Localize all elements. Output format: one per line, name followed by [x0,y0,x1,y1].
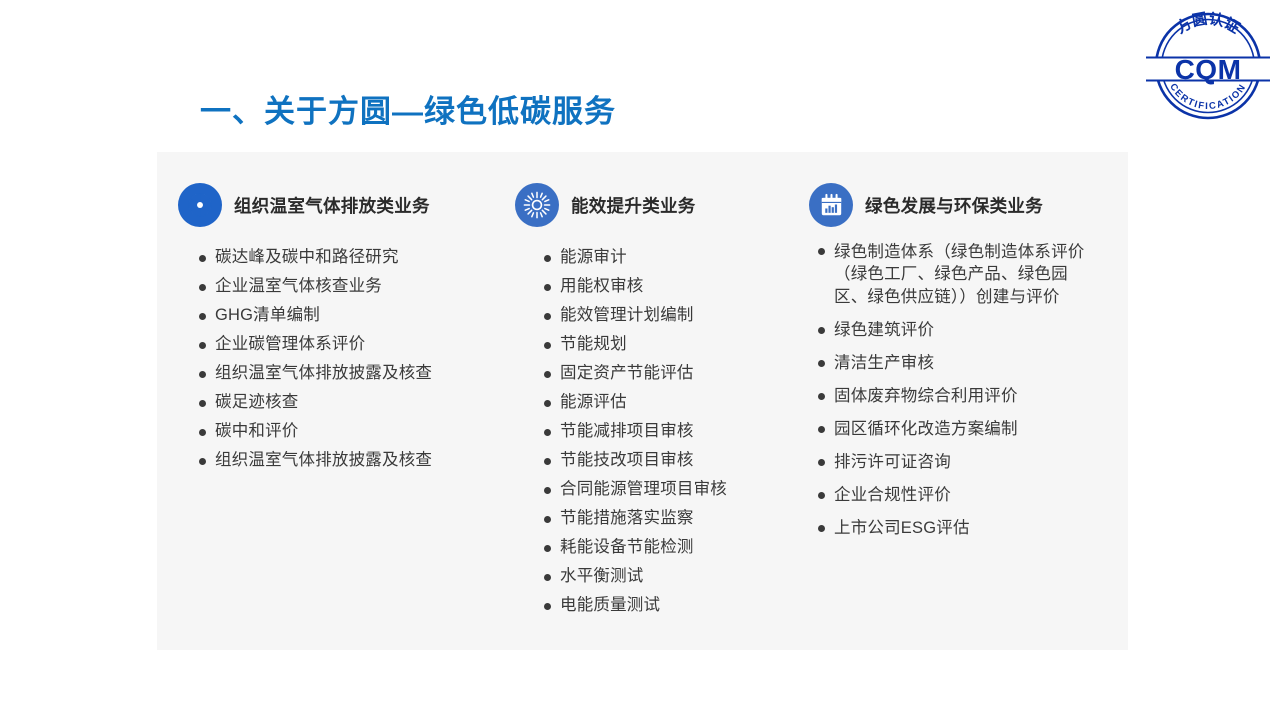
list-item: 能源审计 [543,249,799,266]
list-item: 企业碳管理体系评价 [198,336,504,353]
slide-root: 方圆认证 CERTIFICATION CQM 一、关于方圆—绿色低碳服务 [0,0,1280,720]
list-item: 节能规划 [543,336,799,353]
list-item: 用能权审核 [543,278,799,295]
list-item: 能效管理计划编制 [543,307,799,324]
cqm-certification-logo: 方圆认证 CERTIFICATION CQM [1144,2,1272,130]
service-column-efficiency: 能效提升类业务 能源审计 用能权审核 能效管理计划编制 节能规划 固定资产节能评… [504,152,799,650]
list-item: 碳足迹核查 [198,394,504,411]
list-item: 企业温室气体核查业务 [198,278,504,295]
list-item: 节能技改项目审核 [543,452,799,469]
list-item: 清洁生产审核 [817,353,1128,375]
aperture-icon [178,183,222,227]
logo-bottom-arc-text: CERTIFICATION [1167,82,1249,113]
list-item: 耗能设备节能检测 [543,539,799,556]
list-item: 固体废弃物综合利用评价 [817,386,1128,408]
list-item: 组织温室气体排放披露及核查 [198,452,504,469]
column-header-efficiency: 能效提升类业务 [515,183,799,227]
list-item: 组织温室气体排放披露及核查 [198,365,504,382]
column-title-ghg: 组织温室气体排放类业务 [234,193,430,218]
list-item: 水平衡测试 [543,568,799,585]
svg-text:CERTIFICATION: CERTIFICATION [1167,82,1249,113]
column-title-efficiency: 能效提升类业务 [571,193,696,218]
list-item: 碳中和评价 [198,423,504,440]
list-item: 上市公司ESG评估 [817,518,1128,540]
service-list-efficiency: 能源审计 用能权审核 能效管理计划编制 节能规划 固定资产节能评估 能源评估 节… [543,249,799,614]
service-list-ghg: 碳达峰及碳中和路径研究 企业温室气体核查业务 GHG清单编制 企业碳管理体系评价… [198,249,504,469]
sun-icon [515,183,559,227]
service-list-green: 绿色制造体系（绿色制造体系评价（绿色工厂、绿色产品、绿色园区、绿色供应链））创建… [817,241,1128,540]
list-item: 绿色制造体系（绿色制造体系评价（绿色工厂、绿色产品、绿色园区、绿色供应链））创建… [817,241,1085,308]
list-item: 能源评估 [543,394,799,411]
service-column-green: 绿色发展与环保类业务 绿色制造体系（绿色制造体系评价（绿色工厂、绿色产品、绿色园… [799,152,1128,650]
list-item: 合同能源管理项目审核 [543,481,799,498]
list-item: 节能措施落实监察 [543,510,799,527]
service-columns: 组织温室气体排放类业务 碳达峰及碳中和路径研究 企业温室气体核查业务 GHG清单… [157,152,1128,650]
list-item: 电能质量测试 [543,597,799,614]
list-item: 固定资产节能评估 [543,365,799,382]
page-title: 一、关于方圆—绿色低碳服务 [200,94,616,130]
service-column-ghg: 组织温室气体排放类业务 碳达峰及碳中和路径研究 企业温室气体核查业务 GHG清单… [157,152,504,650]
list-item: 节能减排项目审核 [543,423,799,440]
list-item: 排污许可证咨询 [817,452,1128,474]
list-item: GHG清单编制 [198,307,504,324]
column-header-green: 绿色发展与环保类业务 [809,183,1128,227]
list-item: 园区循环化改造方案编制 [817,419,1128,441]
list-item: 碳达峰及碳中和路径研究 [198,249,504,266]
content-panel: 组织温室气体排放类业务 碳达峰及碳中和路径研究 企业温室气体核查业务 GHG清单… [157,152,1128,650]
calendar-chart-icon [809,183,853,227]
list-item: 企业合规性评价 [817,485,1128,507]
logo-center-text: CQM [1175,54,1242,85]
column-header-ghg: 组织温室气体排放类业务 [178,183,504,227]
list-item: 绿色建筑评价 [817,320,1128,342]
column-title-green: 绿色发展与环保类业务 [865,193,1043,218]
